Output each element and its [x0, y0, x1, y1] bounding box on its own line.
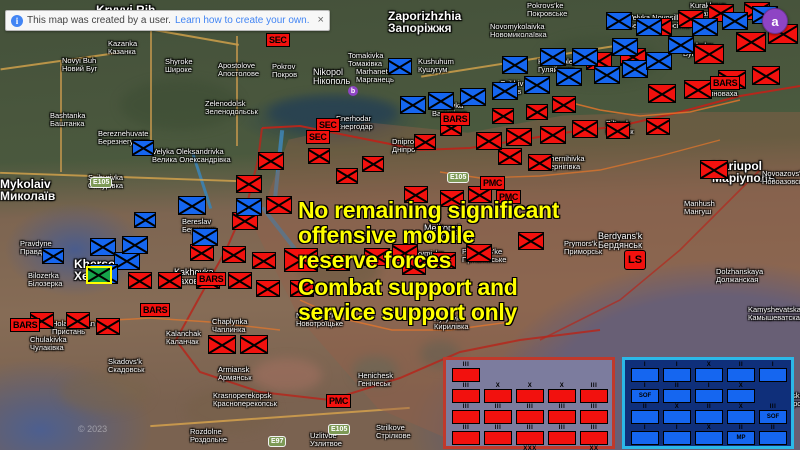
friendly-legend-symbol[interactable]: II: [631, 410, 659, 424]
echelon-marker: XX: [209, 335, 235, 336]
echelon-marker: I: [760, 362, 786, 369]
hostile-unit-symbol[interactable]: [606, 122, 630, 139]
echelon-marker: XX: [737, 32, 765, 33]
road: [150, 20, 152, 150]
friendly-legend-symbol[interactable]: I: [631, 368, 659, 382]
hostile-legend-symbol[interactable]: III: [484, 410, 512, 424]
friendly-legend-symbol[interactable]: X: [695, 368, 723, 382]
banner-text: This map was created by a user.: [27, 15, 171, 26]
friendly-unit-symbol[interactable]: [612, 38, 638, 56]
unit-tag-bars[interactable]: BARS: [710, 76, 740, 90]
road: [236, 36, 238, 146]
hostile-unit-symbol[interactable]: [364, 248, 390, 266]
echelon-marker: III: [581, 425, 607, 432]
friendly-unit-symbol[interactable]: [594, 66, 620, 84]
echelon-marker: I: [696, 383, 722, 390]
hostile-unit-symbol[interactable]: [290, 280, 314, 297]
echelon-marker: XXXX: [241, 335, 267, 336]
echelon-marker: III: [485, 404, 511, 411]
friendly-unit-symbol[interactable]: [492, 82, 518, 100]
friendly-unit-symbol[interactable]: [668, 36, 694, 54]
map-application: Kryvyi RihKazankaКазанкаNovyi BuhНовий Б…: [0, 0, 800, 450]
hostile-unit-symbol[interactable]: [308, 148, 330, 164]
hostile-unit-symbol[interactable]: [528, 154, 552, 171]
friendly-unit-symbol[interactable]: [606, 12, 632, 30]
hostile-unit-symbol[interactable]: [414, 134, 436, 150]
friendly-unit-symbol[interactable]: [572, 48, 598, 66]
friendly-legend-symbol[interactable]: SOFI: [631, 389, 659, 403]
echelon-marker: XXX: [517, 446, 543, 450]
hostile-unit-symbol[interactable]: [336, 168, 358, 184]
road-shield: E105: [90, 177, 112, 188]
echelon-marker: I: [664, 425, 690, 432]
unit-tag-pmc[interactable]: PMC: [480, 176, 505, 190]
echelon-marker: III: [649, 84, 675, 85]
legend-unit-label: SOF: [767, 414, 779, 420]
echelon-marker: X: [664, 404, 690, 411]
friendly-unit-symbol[interactable]: [90, 238, 116, 256]
logistics-support-symbol[interactable]: LS: [624, 250, 646, 270]
hostile-unit-symbol[interactable]: III: [236, 175, 262, 193]
echelon-marker: XX: [285, 248, 317, 249]
hostile-legend-symbol[interactable]: III: [452, 431, 480, 445]
hostile-unit-symbol[interactable]: [498, 148, 522, 165]
echelon-marker: III: [237, 175, 261, 176]
hostile-unit-symbol[interactable]: XX: [518, 232, 544, 250]
echelon-marker: III: [453, 383, 479, 390]
friendly-legend-symbol[interactable]: I: [663, 431, 691, 445]
hostile-unit-symbol[interactable]: III: [476, 132, 502, 150]
road-shield: E105: [447, 172, 469, 183]
map-marker-a[interactable]: a: [762, 8, 788, 34]
friendly-legend-symbol[interactable]: I: [759, 368, 787, 382]
friendly-unit-symbol[interactable]: X: [178, 196, 206, 215]
friendly-legend-symbol[interactable]: I: [695, 389, 723, 403]
friendly-unit-symbol[interactable]: [692, 18, 718, 36]
friendly-legend-symbol[interactable]: SOFIII: [759, 410, 787, 424]
echelon-marker: XX: [519, 232, 543, 233]
friendly-unit-symbol[interactable]: [540, 48, 566, 66]
hostile-legend-symbol[interactable]: III: [516, 431, 544, 445]
hostile-legend-symbol[interactable]: III: [516, 410, 544, 424]
hostile-legend-symbol[interactable]: III: [548, 431, 576, 445]
hostile-unit-symbol[interactable]: III: [506, 128, 532, 146]
friendly-unit-symbol[interactable]: [524, 76, 550, 94]
hostile-unit-symbol[interactable]: XXXX: [240, 335, 268, 354]
friendly-unit-symbol[interactable]: [122, 236, 148, 254]
echelon-marker: II: [696, 404, 722, 411]
unit-tag-bars[interactable]: BARS: [10, 318, 40, 332]
hostile-legend-symbol[interactable]: III: [452, 410, 480, 424]
echelon-marker: III: [517, 425, 543, 432]
hostile-legend-symbol[interactable]: III: [452, 368, 480, 382]
russian-forces-legend: IIIIIIXXXIIIIIIIIIIIIIIIIIIIIIIIIIIIIIII…: [443, 357, 615, 449]
friendly-unit-symbol[interactable]: [556, 68, 582, 86]
hostile-legend-symbol[interactable]: III: [484, 431, 512, 445]
friendly-unit-symbol[interactable]: [460, 88, 486, 106]
hostile-unit-symbol[interactable]: XX: [736, 32, 766, 52]
legend-unit-label: MP: [737, 435, 746, 441]
hostile-unit-symbol[interactable]: [362, 156, 384, 172]
echelon-marker: III: [477, 132, 501, 133]
hostile-legend-symbol[interactable]: III: [580, 410, 608, 424]
echelon-marker: X: [696, 362, 722, 369]
info-icon: i: [11, 15, 23, 27]
unit-tag-pmc[interactable]: PMC: [326, 394, 351, 408]
echelon-marker: X: [549, 383, 575, 390]
hostile-unit-symbol[interactable]: XX: [284, 248, 318, 272]
friendly-legend-symbol[interactable]: X: [727, 410, 755, 424]
hostile-unit-symbol[interactable]: [492, 108, 514, 124]
hostile-unit-symbol[interactable]: III: [228, 272, 252, 289]
unit-tag-bars[interactable]: BARS: [196, 272, 226, 286]
hostile-legend-symbol[interactable]: X: [484, 389, 512, 403]
echelon-marker: X: [179, 196, 205, 197]
hostile-unit-symbol[interactable]: [752, 66, 780, 85]
echelon-marker: II: [632, 404, 658, 411]
echelon-marker: III: [549, 425, 575, 432]
echelon-marker: III: [129, 272, 151, 273]
neutral-unit-symbol[interactable]: [86, 266, 112, 284]
echelon-marker: III: [760, 404, 786, 411]
unit-tag-sec[interactable]: SEC: [266, 33, 290, 47]
friendly-unit-symbol[interactable]: [428, 92, 454, 110]
friendly-unit-symbol[interactable]: [636, 18, 662, 36]
hostile-unit-symbol[interactable]: III: [190, 244, 214, 261]
close-icon[interactable]: ×: [318, 15, 324, 26]
echelon-marker: I: [664, 362, 690, 369]
echelon-marker: I: [632, 425, 658, 432]
echelon-marker: X: [267, 196, 291, 197]
friendly-legend-symbol[interactable]: I: [663, 368, 691, 382]
echelon-marker: III: [229, 272, 251, 273]
echelon-marker: III: [433, 252, 455, 253]
echelon-marker: III: [259, 152, 283, 153]
echelon-marker: III: [327, 254, 349, 255]
hostile-unit-symbol[interactable]: III: [466, 244, 492, 262]
hostile-unit-symbol[interactable]: [552, 96, 576, 113]
hostile-legend-symbol[interactable]: III: [548, 410, 576, 424]
friendly-legend-symbol[interactable]: II: [695, 410, 723, 424]
echelon-marker: XX: [695, 44, 723, 45]
echelon-marker: X: [728, 383, 754, 390]
echelon-marker: III: [453, 362, 479, 369]
unit-tag-bars[interactable]: BARS: [440, 112, 470, 126]
echelon-marker: III: [581, 404, 607, 411]
friendly-legend-symbol[interactable]: II: [663, 389, 691, 403]
echelon-marker: II: [664, 383, 690, 390]
friendly-legend-symbol[interactable]: X: [727, 389, 755, 403]
friendly-legend-symbol[interactable]: X: [663, 410, 691, 424]
echelon-marker: III: [223, 246, 245, 247]
echelon-marker: III: [453, 425, 479, 432]
echelon-marker: III: [453, 404, 479, 411]
terrain-patch: [252, 358, 322, 392]
echelon-marker: III: [485, 425, 511, 432]
friendly-unit-symbol[interactable]: [722, 12, 748, 30]
road: [60, 62, 62, 172]
echelon-marker: III: [67, 312, 89, 313]
hostile-unit-symbol[interactable]: XX: [208, 335, 236, 354]
friendly-unit-symbol[interactable]: [400, 96, 426, 114]
hostile-unit-symbol[interactable]: III: [66, 312, 90, 329]
marker-b[interactable]: b: [348, 86, 358, 96]
friendly-legend-symbol[interactable]: II: [759, 431, 787, 445]
legend-unit-label: SOF: [639, 393, 651, 399]
user-map-notice-banner[interactable]: i This map was created by a user. Learn …: [5, 10, 330, 31]
echelon-marker: II: [760, 425, 786, 432]
hostile-unit-symbol[interactable]: III: [326, 254, 350, 271]
hostile-unit-symbol[interactable]: [572, 120, 598, 138]
friendly-unit-symbol[interactable]: [192, 228, 218, 246]
hostile-unit-symbol[interactable]: III: [128, 272, 152, 289]
echelon-marker: III: [581, 383, 607, 390]
hostile-unit-symbol[interactable]: [256, 280, 280, 297]
friendly-unit-symbol[interactable]: [132, 140, 154, 156]
echelon-marker: III: [517, 404, 543, 411]
friendly-unit-symbol[interactable]: [622, 60, 648, 78]
road-shield: E97: [268, 436, 286, 447]
friendly-legend-symbol[interactable]: MPII: [727, 431, 755, 445]
echelon-marker: III: [541, 126, 565, 127]
unit-tag-bars[interactable]: BARS: [140, 303, 170, 317]
hostile-unit-symbol[interactable]: III: [432, 252, 456, 269]
echelon-marker: III: [549, 404, 575, 411]
unit-tag-sec[interactable]: SEC: [306, 130, 330, 144]
friendly-legend-symbol[interactable]: I: [631, 431, 659, 445]
echelon-marker: II: [728, 425, 754, 432]
friendly-unit-symbol[interactable]: [236, 198, 262, 216]
hostile-unit-symbol[interactable]: [158, 272, 182, 289]
echelon-marker: II: [728, 362, 754, 369]
terrain-patch: [60, 372, 150, 412]
hostile-unit-symbol[interactable]: III: [258, 152, 284, 170]
hostile-legend-symbol[interactable]: X: [516, 389, 544, 403]
friendly-unit-symbol[interactable]: [646, 52, 672, 70]
echelon-marker: III: [393, 244, 417, 245]
echelon-marker: III: [507, 128, 531, 129]
friendly-legend-symbol[interactable]: II: [727, 368, 755, 382]
friendly-unit-symbol[interactable]: [134, 212, 156, 228]
hostile-unit-symbol[interactable]: [404, 186, 428, 203]
hostile-unit-symbol[interactable]: III: [540, 126, 566, 144]
hostile-legend-symbol[interactable]: III: [452, 389, 480, 403]
hostile-unit-symbol[interactable]: X: [266, 196, 292, 214]
echelon-marker: X: [696, 425, 722, 432]
friendly-legend-symbol[interactable]: X: [695, 431, 723, 445]
echelon-marker: X: [517, 383, 543, 390]
hostile-legend-symbol[interactable]: X: [548, 389, 576, 403]
echelon-marker: III: [685, 80, 711, 81]
hostile-unit-symbol[interactable]: [402, 258, 426, 275]
hostile-unit-symbol[interactable]: XX: [694, 44, 724, 64]
echelon-marker: III: [467, 244, 491, 245]
echelon-marker: I: [632, 362, 658, 369]
ukrainian-forces-legend: IIXIIISOFIIIIXIIXIIXSOFIIIIIXMPIIII: [622, 357, 794, 449]
hostile-legend-symbol[interactable]: III: [580, 431, 608, 445]
hostile-legend-symbol[interactable]: III: [580, 389, 608, 403]
echelon-marker: X: [728, 404, 754, 411]
hostile-unit-symbol[interactable]: III: [222, 246, 246, 263]
friendly-unit-symbol[interactable]: [388, 58, 412, 75]
terrain-patch: [120, 80, 240, 130]
create-your-own-link[interactable]: Learn how to create your own.: [175, 15, 310, 26]
hostile-unit-symbol[interactable]: III: [684, 80, 712, 99]
unit-tag-pmc[interactable]: PMC: [496, 190, 521, 204]
friendly-unit-symbol[interactable]: [502, 56, 528, 74]
echelon-marker: I: [632, 383, 658, 390]
echelon-marker: XX: [581, 446, 607, 450]
hostile-unit-symbol[interactable]: [96, 318, 120, 335]
road-shield: E105: [328, 424, 350, 435]
echelon-marker: X: [485, 383, 511, 390]
hostile-unit-symbol[interactable]: [440, 190, 464, 207]
hostile-unit-symbol[interactable]: [700, 160, 728, 179]
friendly-unit-symbol[interactable]: [42, 248, 64, 264]
terrain-patch: [186, 388, 276, 432]
hostile-unit-symbol[interactable]: III: [648, 84, 676, 103]
hostile-unit-symbol[interactable]: [526, 104, 548, 120]
echelon-marker: III: [719, 70, 745, 71]
hostile-unit-symbol[interactable]: [252, 252, 276, 269]
hostile-unit-symbol[interactable]: [646, 118, 670, 135]
